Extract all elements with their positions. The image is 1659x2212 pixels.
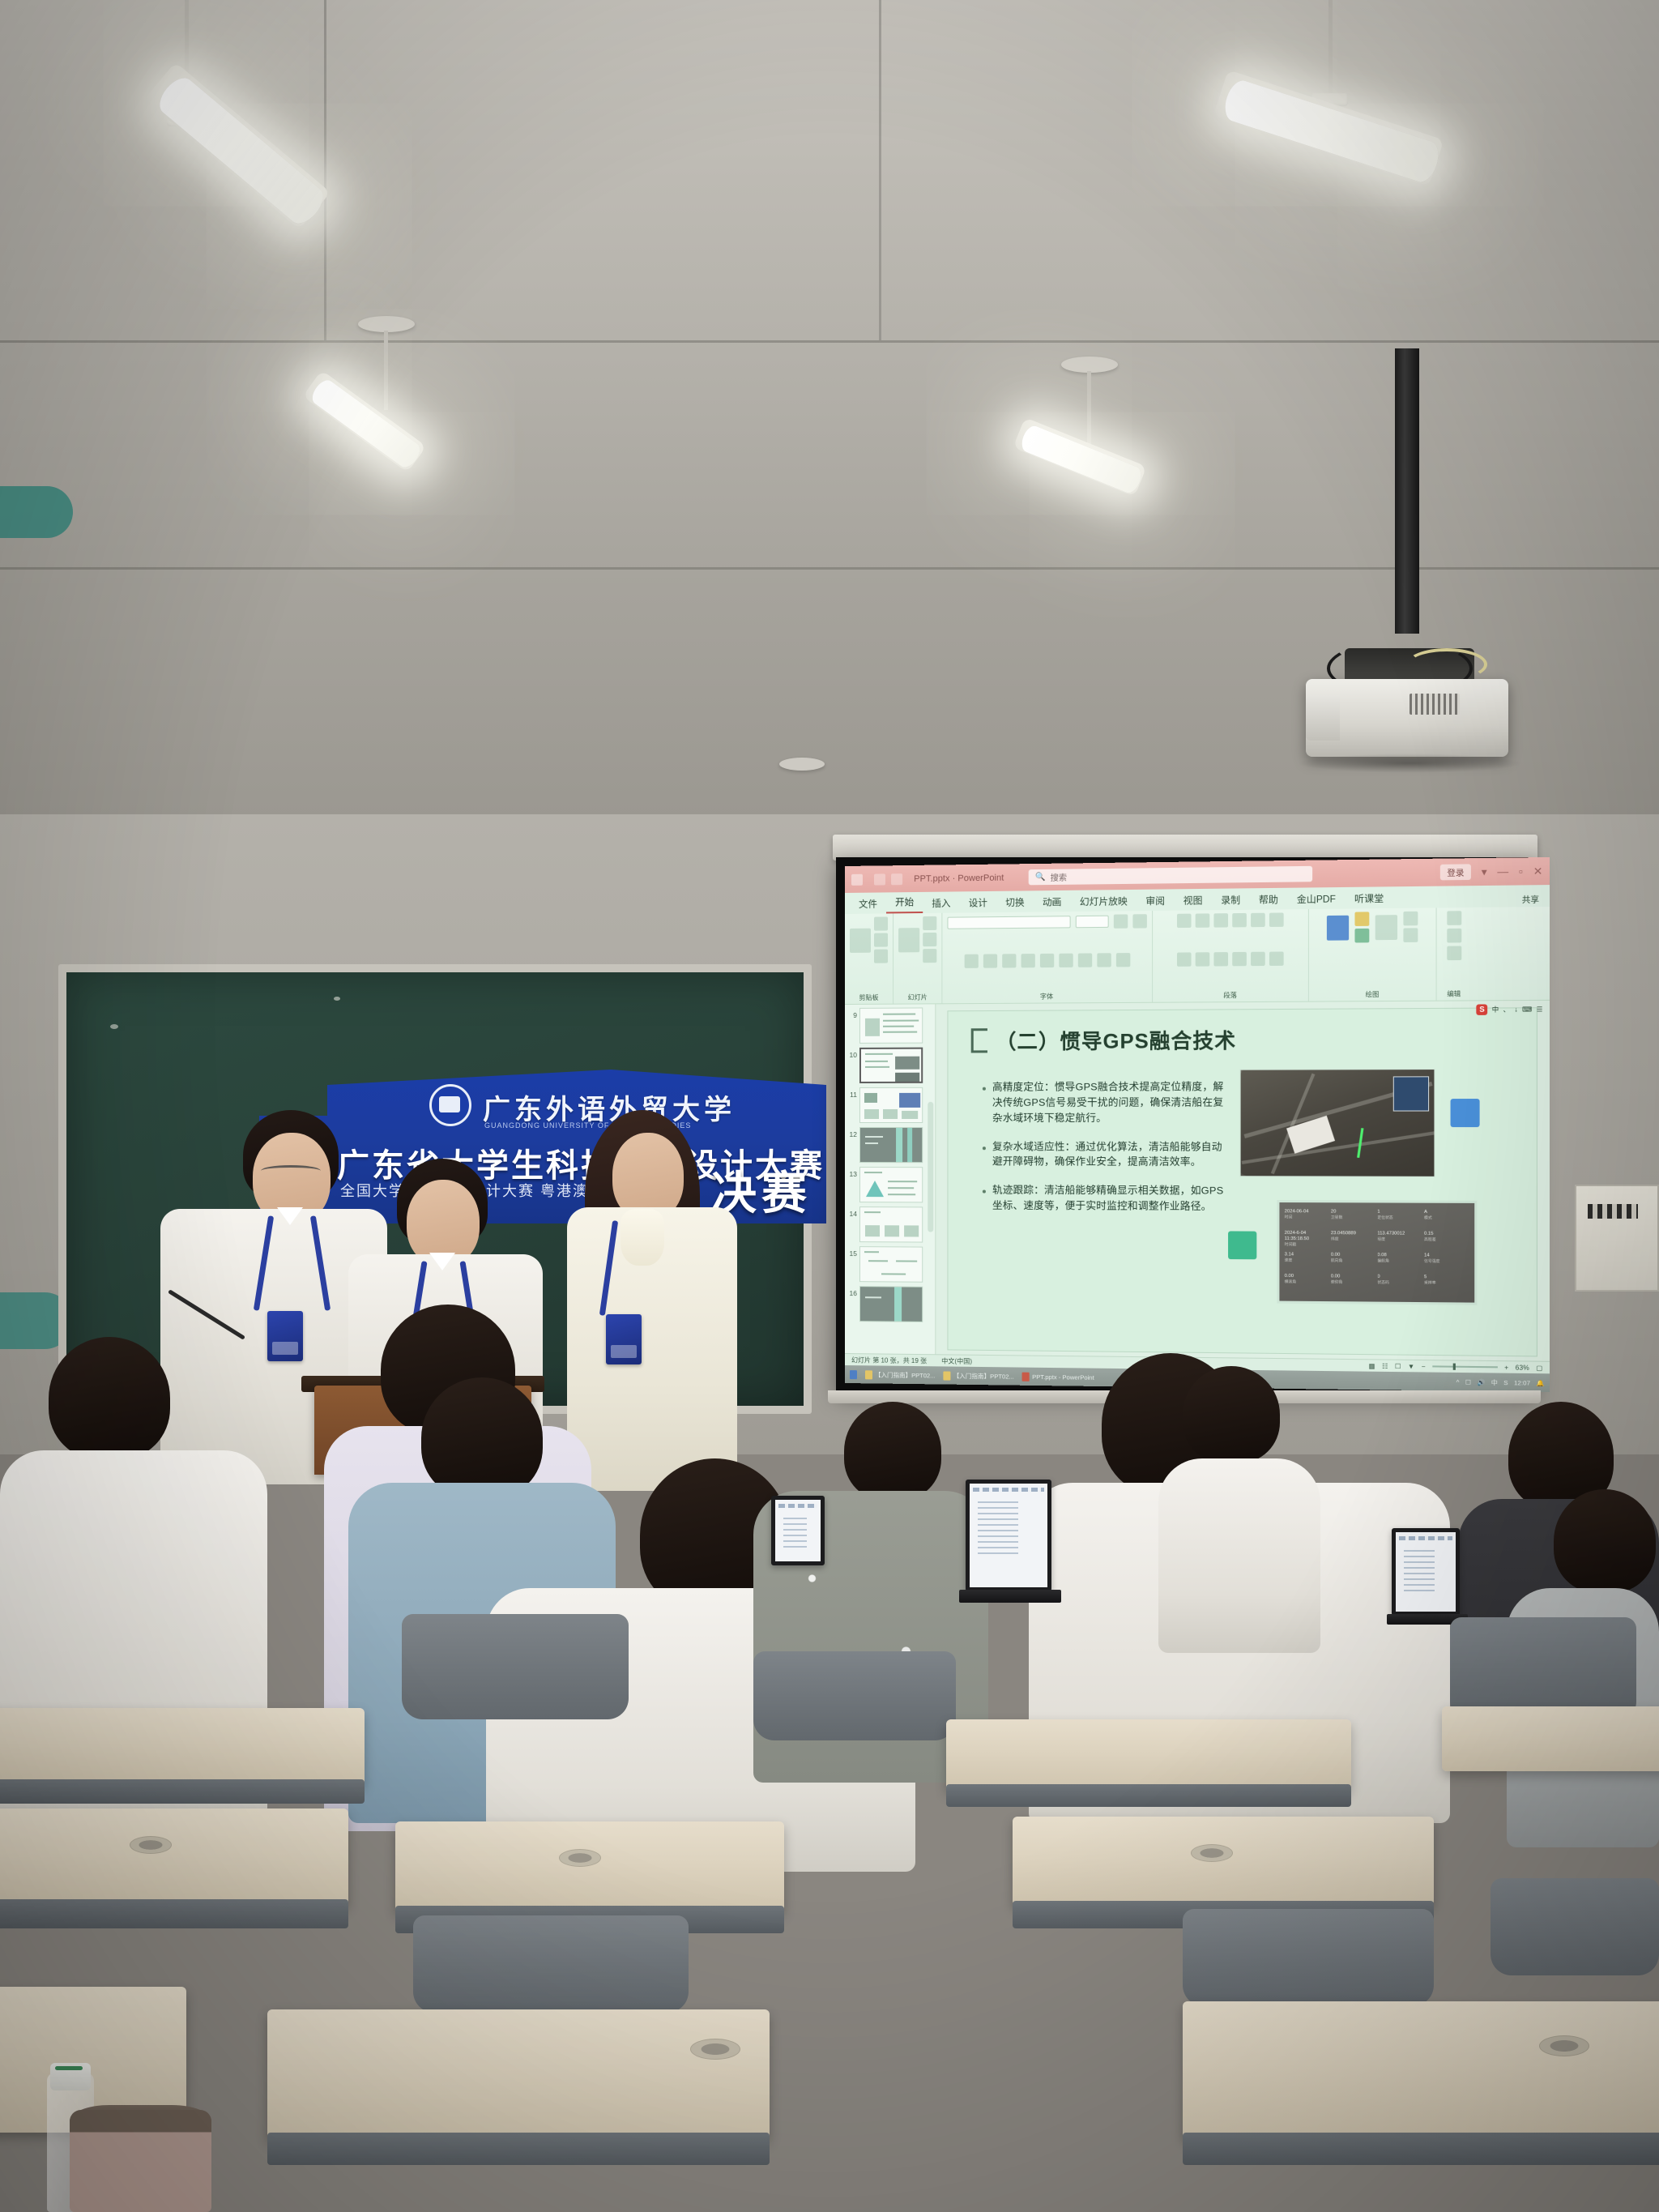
water-bottle-cap[interactable] (50, 2063, 91, 2090)
desk-row2-right (1013, 1817, 1434, 1906)
zoom-slider-knob[interactable] (1452, 1364, 1455, 1370)
telemetry-cell: 5采样率 (1424, 1275, 1469, 1295)
text-shadow-icon[interactable] (1039, 954, 1053, 967)
ribbon[interactable]: 剪贴板 幻灯片 (845, 907, 1550, 1005)
powerpoint-window: PPT.pptx · PowerPoint 🔍 搜索 登录 ▾ — ▫ ✕ (845, 857, 1550, 1392)
thumbnail-preview[interactable] (859, 1286, 923, 1322)
ribbon-group-clipboard[interactable]: 剪贴板 (845, 913, 893, 1004)
desk-grommet (559, 1849, 601, 1867)
electrical-panel (1575, 1185, 1659, 1292)
thumbnail-item[interactable]: 14 (847, 1206, 933, 1243)
view-reading-icon[interactable]: ☐ (1395, 1362, 1401, 1369)
taskbar-item[interactable]: 【入门指南】PPT02... (865, 1370, 936, 1380)
line-spacing-icon[interactable] (1251, 913, 1265, 928)
tab-record[interactable]: 录制 (1212, 890, 1250, 910)
tab-classroom[interactable]: 听课堂 (1345, 889, 1392, 908)
tab-kingsoft-pdf[interactable]: 金山PDF (1287, 890, 1345, 909)
find-icon[interactable] (1447, 911, 1461, 925)
projector-vent (1410, 694, 1460, 715)
zoom-out-button[interactable]: − (1422, 1363, 1426, 1370)
font-color-icon[interactable] (1115, 953, 1129, 967)
desk-edge (946, 1784, 1351, 1807)
audience-laptop-1[interactable] (966, 1480, 1051, 1591)
bullet-marker-icon (983, 1190, 986, 1194)
bullet-marker-icon (983, 1087, 986, 1091)
presenter-badge (606, 1314, 642, 1364)
font-size-input[interactable] (1076, 916, 1109, 929)
volume-icon[interactable]: 🔊 (1477, 1378, 1485, 1386)
desk-edge (1183, 2133, 1659, 2165)
accent-square-green (1228, 1231, 1256, 1259)
copy-icon[interactable] (874, 933, 888, 947)
save-icon[interactable] (851, 873, 863, 885)
bullets-icon[interactable] (1177, 914, 1192, 928)
text-direction-icon[interactable] (1269, 912, 1284, 927)
shape-effects-icon[interactable] (1403, 928, 1418, 942)
file-explorer-icon[interactable] (850, 1370, 857, 1379)
zoom-slider[interactable] (1432, 1365, 1498, 1368)
thumbnail-preview-selected[interactable] (859, 1048, 923, 1083)
bullet-marker-icon (983, 1147, 986, 1150)
chair-back (1183, 1909, 1434, 2006)
decrease-font-icon[interactable] (1132, 914, 1146, 928)
smartart-icon[interactable] (1269, 951, 1284, 966)
ribbon-group-font[interactable]: 字体 (942, 911, 1153, 1003)
projector-pole (1395, 348, 1419, 634)
projector-cable-yellow (1406, 648, 1487, 681)
select-icon[interactable] (1447, 946, 1461, 960)
tab-file[interactable]: 文件 (850, 895, 886, 914)
tab-help[interactable]: 帮助 (1250, 890, 1288, 910)
bullet-item: 高精度定位：惯导GPS融合技术提高定位精度，解决传统GPS信号易受干扰的问题，确… (983, 1079, 1231, 1126)
powerpoint-icon[interactable] (1022, 1372, 1030, 1381)
language-indicator[interactable]: 中文(中国) (941, 1356, 972, 1365)
tray-expand-icon[interactable]: ^ (1456, 1378, 1460, 1386)
blouse-bow (621, 1209, 664, 1266)
desk-grommet (690, 2039, 740, 2060)
thumbnail-preview[interactable] (859, 1246, 923, 1283)
increase-indent-icon[interactable] (1232, 913, 1247, 928)
view-slideshow-icon[interactable]: ▼ (1408, 1362, 1414, 1369)
bullet-text: 高精度定位：惯导GPS融合技术提高定位精度，解决传统GPS信号易受干扰的问题，确… (992, 1079, 1231, 1126)
telemetry-cell: 23.0450889纬度 (1331, 1231, 1375, 1251)
audience-laptop-2[interactable] (1392, 1528, 1460, 1616)
desk-row3-center (267, 2009, 770, 2139)
desk-row1-far-right (1442, 1706, 1659, 1771)
telemetry-cell: 0.00俯仰角 (1331, 1274, 1375, 1294)
telemetry-cell: 113.4730012经度 (1377, 1231, 1422, 1251)
align-center-icon[interactable] (1196, 952, 1210, 966)
ppt-workspace: 9 10 (845, 1001, 1550, 1392)
cut-icon[interactable] (874, 916, 888, 930)
search-box[interactable]: 🔍 搜索 (1029, 866, 1312, 886)
ime-more-icon[interactable]: ☰ (1537, 1006, 1543, 1013)
view-sorter-icon[interactable]: ☷ (1382, 1362, 1388, 1369)
tab-view[interactable]: 视图 (1174, 891, 1211, 911)
numbering-icon[interactable] (1196, 913, 1210, 927)
thumbnail-item[interactable]: 10 (847, 1048, 933, 1083)
justify-icon[interactable] (1232, 952, 1247, 966)
ribbon-options-icon[interactable]: ▾ (1482, 865, 1487, 879)
align-left-icon[interactable] (1177, 952, 1192, 966)
align-right-icon[interactable] (1213, 952, 1228, 966)
undo-icon[interactable] (874, 873, 885, 885)
sogou-ime-icon[interactable]: S (1477, 1004, 1488, 1014)
desk-row2-center (395, 1821, 784, 1912)
telemetry-cell: 2024-06-04时间 (1285, 1209, 1329, 1229)
layout-icon[interactable] (923, 916, 936, 930)
thumbnail-number: 10 (847, 1048, 857, 1059)
tab-design[interactable]: 设计 (960, 894, 997, 913)
shapes-icon[interactable] (1327, 915, 1349, 940)
new-slide-icon[interactable] (898, 928, 919, 952)
font-name-input[interactable] (947, 916, 1070, 929)
slide-thumbnail-panel[interactable]: 9 10 (845, 1004, 936, 1384)
share-button[interactable]: 共享 (1516, 890, 1544, 907)
thumbnail-number: 16 (847, 1286, 857, 1297)
telemetry-cell: 0状态码 (1377, 1275, 1422, 1295)
telemetry-cell: 14信号强度 (1424, 1253, 1469, 1273)
thumbnail-preview[interactable] (859, 1127, 923, 1163)
projector-lens (1306, 695, 1340, 741)
sogou-tray-icon[interactable]: S (1503, 1378, 1508, 1386)
thumbnail-scrollbar[interactable] (928, 1102, 933, 1232)
taskbar-item[interactable]: 【入门指南】PPT02... (944, 1371, 1014, 1381)
thumbnail-preview[interactable] (859, 1007, 923, 1043)
map-inset-panel (1393, 1076, 1429, 1111)
group-label-paragraph: 段落 (1223, 991, 1237, 1000)
desk-row1-left (0, 1708, 365, 1786)
satellite-map-image[interactable] (1240, 1069, 1435, 1177)
audience-laptop-1-base (959, 1590, 1061, 1603)
group-label-drawing: 绘图 (1366, 990, 1380, 999)
arrange-icon[interactable] (1354, 912, 1369, 926)
format-painter-icon[interactable] (874, 950, 888, 963)
redo-icon[interactable] (891, 873, 902, 885)
section-icon[interactable] (923, 949, 936, 963)
thumbnail-number: 9 (847, 1008, 857, 1019)
desk-edge (267, 2133, 770, 2165)
slide-bullet-list: 高精度定位：惯导GPS融合技术提高定位精度，解决传统GPS信号易受干扰的问题，确… (983, 1079, 1231, 1228)
strikethrough-icon[interactable] (1021, 954, 1034, 967)
thumbnail-preview[interactable] (859, 1167, 923, 1202)
audience-laptop-3[interactable] (771, 1496, 825, 1565)
thumbnail-preview[interactable] (859, 1087, 923, 1123)
minimize-button[interactable]: — (1497, 865, 1508, 878)
network-icon[interactable]: ☐ (1465, 1378, 1471, 1386)
telemetry-cell: 0.00横滚角 (1285, 1274, 1329, 1294)
underline-icon[interactable] (1002, 954, 1016, 967)
bullet-item: 轨迹跟踪：清洁船能够精确显示相关数据，如GPS坐标、速度等，便于实时监控和调整作… (983, 1183, 1231, 1215)
login-button[interactable]: 登录 (1440, 864, 1471, 880)
paste-icon[interactable] (850, 928, 871, 952)
zoom-in-button[interactable]: + (1504, 1364, 1508, 1371)
text-highlight-icon[interactable] (1097, 953, 1111, 967)
bullet-text: 复杂水域适应性：通过优化算法，清洁船能够自动避开障碍物，确保作业安全，提高清洁效… (992, 1139, 1231, 1171)
group-label-clipboard: 剪贴板 (859, 993, 878, 1002)
search-placeholder: 搜索 (1051, 871, 1067, 883)
group-label-font: 字体 (1040, 992, 1053, 1001)
thumbnail-item[interactable]: 13 (847, 1167, 933, 1202)
ime-punct-icon[interactable]: 、 (1503, 1005, 1511, 1014)
chair-back (402, 1614, 629, 1719)
thumbnail-number: 15 (847, 1246, 857, 1258)
change-case-icon[interactable] (1077, 953, 1091, 967)
tab-home[interactable]: 开始 (886, 893, 923, 914)
projection-screen: PPT.pptx · PowerPoint 🔍 搜索 登录 ▾ — ▫ ✕ (836, 857, 1536, 1392)
chair-back (1491, 1878, 1659, 1975)
ime-tray-mode[interactable]: 中 (1491, 1377, 1498, 1386)
tab-animations[interactable]: 动画 (1034, 893, 1071, 912)
projector-shadow (1296, 754, 1523, 773)
telemetry-cell: A模式 (1424, 1210, 1469, 1230)
telemetry-data-panel[interactable]: 2024-06-04时间 20卫星数 1定位状态 A模式 2024-6-04 1… (1277, 1200, 1477, 1305)
tab-transitions[interactable]: 切换 (996, 893, 1034, 912)
system-tray[interactable]: ^ ☐ 🔊 中 S 12:07 🔔 (1456, 1377, 1545, 1388)
taskbar-label[interactable]: PPT.pptx - PowerPoint (1032, 1373, 1094, 1381)
close-button[interactable]: ✕ (1533, 865, 1543, 878)
telemetry-cell: 20卫星数 (1331, 1209, 1375, 1229)
desk-grommet (1191, 1844, 1233, 1862)
desk-edge (0, 1899, 348, 1928)
quick-styles-icon[interactable] (1354, 929, 1369, 943)
slide-title: （二）惯导GPS融合技术 (996, 1025, 1236, 1056)
thumbnail-number: 11 (847, 1087, 857, 1099)
taskbar-label[interactable]: 【入门指南】PPT02... (953, 1371, 1014, 1381)
thumbnail-number: 14 (847, 1206, 857, 1218)
notifications-icon[interactable]: 🔔 (1536, 1379, 1544, 1386)
view-normal-icon[interactable]: ▦ (1369, 1362, 1375, 1369)
group-label-slides: 幻灯片 (908, 993, 928, 1001)
replace-icon[interactable] (1447, 929, 1461, 943)
maximize-button[interactable]: ▫ (1519, 865, 1523, 878)
thumbnail-preview[interactable] (859, 1206, 923, 1242)
ribbon-group-editing[interactable]: 编辑 (1437, 907, 1471, 1001)
accent-square-blue (1451, 1099, 1480, 1127)
ribbon-group-drawing[interactable]: 绘图 (1309, 907, 1437, 1001)
telemetry-cell: 1定位状态 (1377, 1210, 1422, 1230)
ime-mode[interactable]: 中 (1492, 1005, 1499, 1014)
decrease-indent-icon[interactable] (1213, 913, 1228, 927)
italic-icon[interactable] (983, 954, 996, 967)
telemetry-cell: 2024-6-04 11:35:18.50时间戳 (1285, 1231, 1329, 1251)
desk-row2-left (0, 1808, 348, 1906)
bullet-text: 轨迹跟踪：清洁船能够精确显示相关数据，如GPS坐标、速度等，便于实时监控和调整作… (992, 1183, 1231, 1215)
fit-to-window-icon[interactable]: ▢ (1536, 1364, 1542, 1371)
taskbar-label[interactable]: 【入门指南】PPT02... (875, 1370, 936, 1380)
thumbnail-item[interactable]: 9 (847, 1007, 933, 1044)
thumbnail-item[interactable]: 15 (847, 1246, 933, 1283)
slide-counter[interactable]: 幻灯片 第 10 张，共 19 张 (851, 1356, 927, 1365)
thumbnail-item[interactable]: 12 (847, 1127, 933, 1163)
chair-back (753, 1651, 956, 1740)
ribbon-group-slides[interactable]: 幻灯片 (893, 913, 942, 1004)
desk-grommet (1539, 2035, 1589, 2056)
zoom-level[interactable]: 63% (1516, 1364, 1529, 1371)
title-bracket-decor (971, 1028, 987, 1053)
ime-keyboard-icon[interactable]: ⌨ (1522, 1006, 1532, 1013)
wall-arc-decor (0, 486, 73, 538)
folder-icon[interactable] (944, 1371, 951, 1380)
thermos-cup[interactable] (70, 2110, 211, 2212)
desk-row1-right (946, 1719, 1351, 1791)
desk-edge (0, 1779, 365, 1804)
group-label-editing: 编辑 (1447, 989, 1461, 998)
thumbnail-number: 13 (847, 1167, 857, 1178)
taskbar-explorer[interactable] (850, 1370, 857, 1379)
ime-indicator[interactable]: S 中 、 ↓ ⌨ ☰ (1477, 1004, 1543, 1015)
current-slide[interactable]: （二）惯导GPS融合技术 高精度定位：惯导GPS融合技术提高定位精度，解决传统G… (947, 1007, 1537, 1356)
glasses-icon (261, 1165, 321, 1176)
classroom-presentation-photo: 广东外语外贸大学 GUANGDONG UNIVERSITY OF FOREIGN… (0, 0, 1659, 2212)
telemetry-cell: 0.00航向角 (1331, 1253, 1375, 1273)
bold-icon[interactable] (964, 954, 978, 968)
ribbon-group-paragraph[interactable]: 段落 (1153, 909, 1309, 1002)
thumbnail-number: 12 (847, 1127, 857, 1138)
university-logo-icon (429, 1084, 471, 1126)
tab-slideshow[interactable]: 幻灯片放映 (1071, 892, 1137, 912)
ceiling-canopy (779, 758, 825, 771)
desk-grommet (130, 1836, 172, 1854)
presenter-badge (267, 1311, 303, 1361)
increase-font-icon[interactable] (1114, 914, 1128, 928)
document-title: PPT.pptx · PowerPoint (914, 873, 1004, 883)
columns-icon[interactable] (1251, 952, 1265, 966)
bullet-item: 复杂水域适应性：通过优化算法，清洁船能够自动避开障碍物，确保作业安全，提高清洁效… (983, 1139, 1231, 1171)
folder-icon[interactable] (865, 1370, 872, 1379)
chair-back (413, 1915, 689, 2013)
character-spacing-icon[interactable] (1059, 954, 1073, 967)
clock-time[interactable]: 12:07 (1514, 1379, 1530, 1387)
desk-row3-right (1183, 2001, 1659, 2139)
taskbar-item-powerpoint[interactable]: PPT.pptx - PowerPoint (1022, 1372, 1094, 1381)
thumbnail-item[interactable]: 11 (847, 1087, 933, 1123)
telemetry-cell: 0.15高程差 (1424, 1232, 1469, 1252)
search-icon: 🔍 (1035, 873, 1046, 882)
shape-fill-icon[interactable] (1375, 915, 1397, 940)
event-banner: 广东外语外贸大学 GUANGDONG UNIVERSITY OF FOREIGN… (259, 1070, 826, 1223)
ime-download-icon[interactable]: ↓ (1514, 1006, 1517, 1013)
shape-outline-icon[interactable] (1403, 912, 1418, 926)
slide-canvas-area: （二）惯导GPS融合技术 高精度定位：惯导GPS融合技术提高定位精度，解决传统G… (936, 1001, 1550, 1392)
reset-icon[interactable] (923, 933, 936, 946)
telemetry-cell: 3.14速度 (1285, 1252, 1329, 1272)
telemetry-cell: 0.08偏航角 (1377, 1253, 1422, 1273)
tab-insert[interactable]: 插入 (923, 894, 959, 913)
quick-access-toolbar[interactable] (874, 873, 902, 885)
thumbnail-item[interactable]: 16 (847, 1286, 933, 1322)
tab-review[interactable]: 审阅 (1137, 891, 1174, 911)
